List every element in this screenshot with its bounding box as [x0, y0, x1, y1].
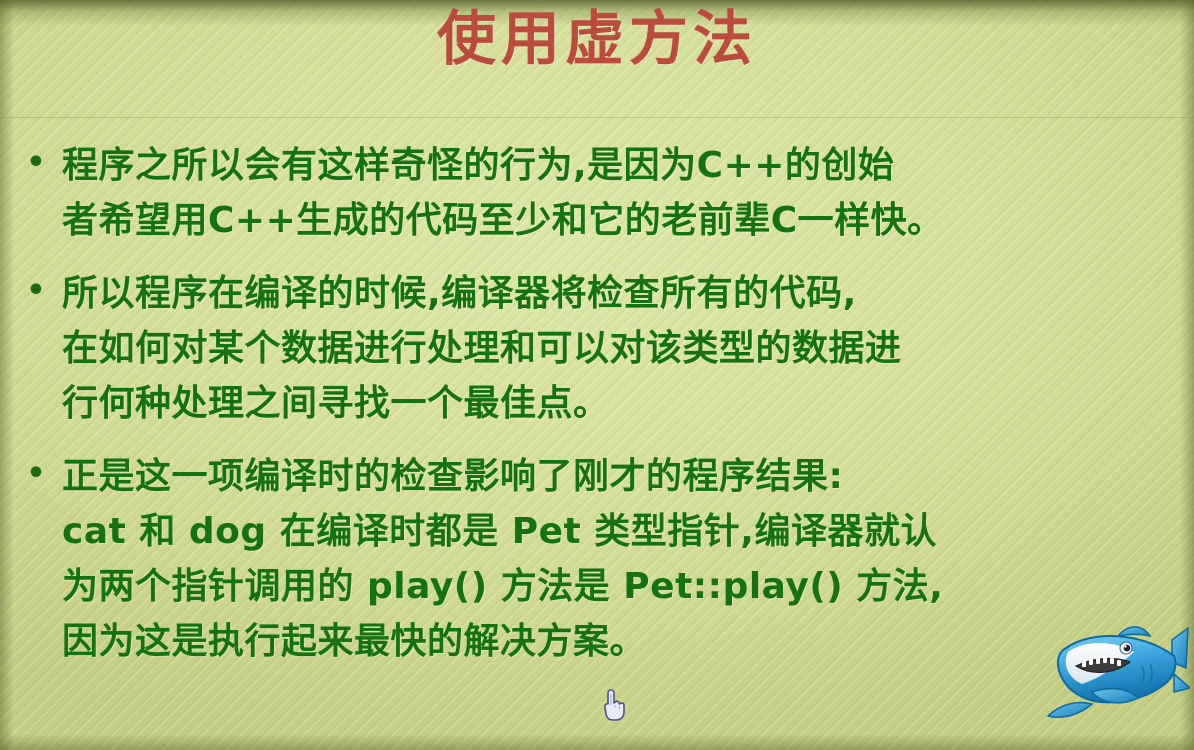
bullet-3-line-3: 为两个指针调用的 play() 方法是 Pet::play() 方法, [62, 559, 1184, 614]
bullet-marker-icon: • [10, 266, 62, 316]
bullet-text-2: 所以程序在编译的时候,编译器将检查所有的代码, 在如何对某个数据进行处理和可以对… [62, 266, 1184, 431]
bullet-2-line-2: 在如何对某个数据进行处理和可以对该类型的数据进 [62, 321, 1184, 376]
bullet-2-line-1: 所以程序在编译的时候,编译器将检查所有的代码, [62, 266, 1184, 321]
bullet-marker-icon: • [10, 449, 62, 499]
bullet-2-line-3: 行何种处理之间寻找一个最佳点。 [62, 376, 1184, 431]
slide-body: • 程序之所以会有这样奇怪的行为,是因为C++的创始 者希望用C++生成的代码至… [10, 138, 1184, 740]
bullet-3-line-4: 因为这是执行起来最快的解决方案。 [62, 614, 1184, 669]
bullet-1-line-1: 程序之所以会有这样奇怪的行为,是因为C++的创始 [62, 138, 1184, 193]
slide-canvas: 使用虚方法 • 程序之所以会有这样奇怪的行为,是因为C++的创始 者希望用C++… [0, 0, 1194, 750]
bullet-item-1: • 程序之所以会有这样奇怪的行为,是因为C++的创始 者希望用C++生成的代码至… [10, 138, 1184, 248]
bullet-3-line-1: 正是这一项编译时的检查影响了刚才的程序结果: [62, 449, 1184, 504]
bullet-marker-icon: • [10, 138, 62, 188]
bullet-text-3: 正是这一项编译时的检查影响了刚才的程序结果: cat 和 dog 在编译时都是 … [62, 449, 1184, 669]
bullet-item-3: • 正是这一项编译时的检查影响了刚才的程序结果: cat 和 dog 在编译时都… [10, 449, 1184, 669]
slide-title: 使用虚方法 [0, 8, 1194, 70]
bullet-3-line-2: cat 和 dog 在编译时都是 Pet 类型指针,编译器就认 [62, 504, 1184, 559]
bullet-item-2: • 所以程序在编译的时候,编译器将检查所有的代码, 在如何对某个数据进行处理和可… [10, 266, 1184, 431]
title-divider [0, 117, 1194, 118]
bullet-text-1: 程序之所以会有这样奇怪的行为,是因为C++的创始 者希望用C++生成的代码至少和… [62, 138, 1184, 248]
bullet-1-line-2: 者希望用C++生成的代码至少和它的老前辈C一样快。 [62, 193, 1184, 248]
